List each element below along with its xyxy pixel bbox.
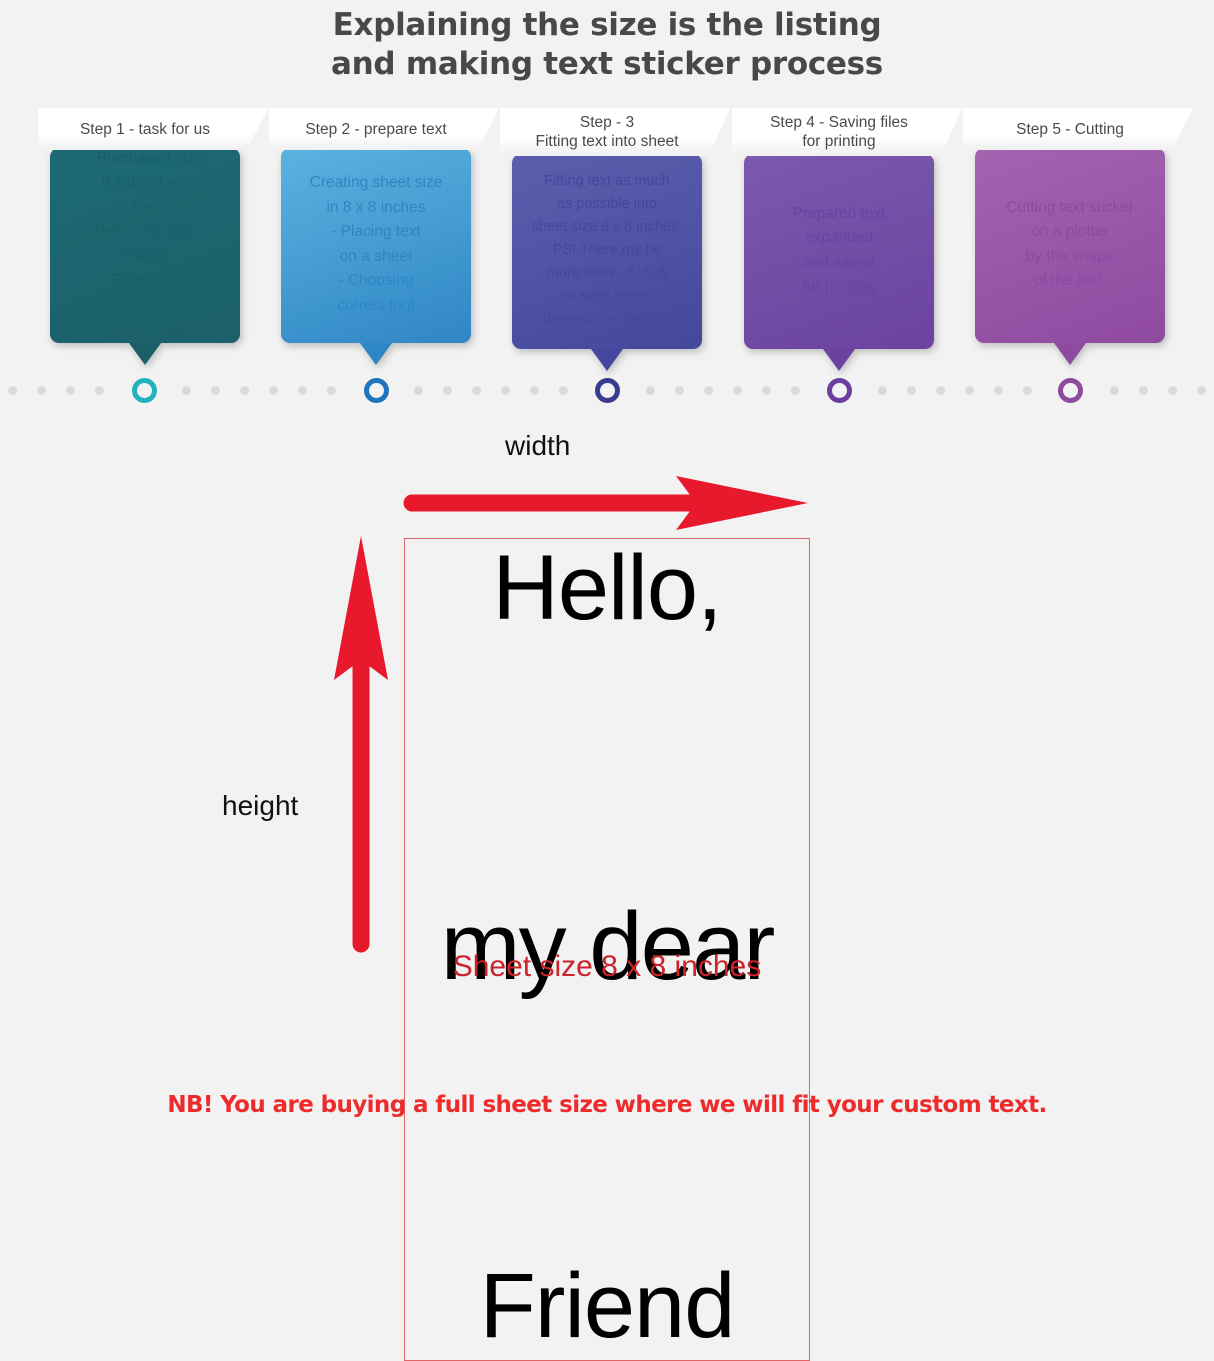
step-4-label-ribbon: Step 4 - Saving files for printing: [732, 108, 962, 156]
timeline-dot: [1168, 386, 1177, 395]
nb-note: NB! You are buying a full sheet size whe…: [0, 1092, 1214, 1118]
timeline-dot: [907, 386, 916, 395]
timeline-dot: [240, 386, 249, 395]
timeline-marker-step-3[interactable]: [595, 378, 620, 403]
timeline-dot: [1023, 386, 1032, 395]
timeline-dot: [559, 386, 568, 395]
step-5-pointer-tail: [1054, 343, 1086, 365]
step-3-body-line: sheet size 8 x 8 inches.: [520, 216, 694, 239]
step-1-body-line: 8 x 8 inches: [58, 294, 232, 319]
step-5-card: Cutting text sticker on a plotter by the…: [975, 148, 1165, 343]
step-3-pointer-tail: [591, 349, 623, 371]
timeline-marker-step-2[interactable]: [364, 378, 389, 403]
step-5-card-text: Cutting text sticker on a plotter by the…: [983, 196, 1157, 294]
step-4-label-text: Step 4 - Saving files: [770, 113, 908, 132]
timeline-dot: [95, 386, 104, 395]
step-2-label-text: Step 2 - prepare text: [305, 120, 446, 139]
step-3-body-line: depends on the text: [520, 308, 694, 331]
step-4-body-line: for printing: [752, 275, 926, 300]
timeline-dot: [211, 386, 220, 395]
timeline-dot: [472, 386, 481, 395]
timeline-dot: [791, 386, 800, 395]
timeline-dot: [675, 386, 684, 395]
step-1-body-line: Hello, my dear: [58, 220, 232, 245]
step-1-body-line: Friend.: [58, 245, 232, 270]
sheet-text-line-3: Friend: [404, 1256, 810, 1356]
step-4-body-line: Prepared text: [752, 202, 926, 227]
width-dimension-label: width: [505, 430, 570, 462]
timeline-dot: [1139, 386, 1148, 395]
step-2[interactable]: Step 2 - prepare text Creating sheet siz…: [281, 108, 471, 343]
step-1-body-line: -Font : Lato: [58, 318, 232, 343]
step-5-body-line: Cutting text sticker: [983, 196, 1157, 221]
step-2-body-line: in 8 x 8 inches: [289, 196, 463, 221]
timeline-dot: [66, 386, 75, 395]
step-5[interactable]: Step 5 - Cutting Cutting text sticker on…: [975, 108, 1165, 343]
step-3-body-line: Fitting text as much: [520, 170, 694, 193]
timeline-dot: [530, 386, 539, 395]
step-3-label-subtext: Fitting text into sheet: [535, 132, 678, 151]
step-4-card: Prepared text expanded and saved for pri…: [744, 154, 934, 349]
step-5-body-line: by the shape: [983, 245, 1157, 270]
timeline-dot: [269, 386, 278, 395]
step-4-card-text: Prepared text expanded and saved for pri…: [752, 202, 926, 300]
sheet-size-caption: Sheet size 8 x 8 inches: [404, 950, 810, 984]
step-1-body-line: 8 x 8 inches.: [58, 171, 232, 196]
step-2-pointer-tail: [360, 343, 392, 365]
timeline-dot: [37, 386, 46, 395]
process-steps-strip: Step 1 - task for us - Purchased size 8 …: [0, 108, 1214, 368]
page-title-line-1: Explaining the size is the listing: [0, 6, 1214, 45]
step-3-card-text: Fitting text as much as possible into sh…: [520, 170, 694, 331]
timeline-dot: [936, 386, 945, 395]
timeline-dot: [762, 386, 771, 395]
step-1-card: - Purchased size 8 x 8 inches. - Text : …: [50, 148, 240, 343]
step-2-body-line: correct font: [289, 294, 463, 319]
timeline-dot: [1197, 386, 1206, 395]
height-dimension-label: height: [222, 790, 298, 822]
timeline-marker-step-4[interactable]: [827, 378, 852, 403]
step-1-body-line: - Fit into size: [58, 269, 232, 294]
page-title-line-2: and making text sticker process: [0, 45, 1214, 84]
timeline-dot: [443, 386, 452, 395]
step-1-card-text: - Purchased size 8 x 8 inches. - Text : …: [58, 147, 232, 343]
step-5-body-line: on a plotter: [983, 220, 1157, 245]
step-3-card: Fitting text as much as possible into sh…: [512, 154, 702, 349]
step-3-label-ribbon: Step - 3 Fitting text into sheet: [500, 108, 730, 156]
timeline-dot: [414, 386, 423, 395]
step-3-body-line: more rows : 4, 5, 6: [520, 262, 694, 285]
step-2-body-line: Creating sheet size: [289, 171, 463, 196]
step-2-label-ribbon: Step 2 - prepare text: [269, 108, 499, 150]
step-4-body-line: and saved: [752, 251, 926, 276]
timeline-dot: [327, 386, 336, 395]
step-4-body-line: expanded: [752, 226, 926, 251]
step-1-body-line: - Purchased size: [58, 147, 232, 172]
step-1-label-text: Step 1 - task for us: [80, 120, 210, 139]
timeline-marker-step-1[interactable]: [132, 378, 157, 403]
step-2-card: Creating sheet size in 8 x 8 inches - Pl…: [281, 148, 471, 343]
sheet-text-line-1: Hello,: [404, 538, 810, 638]
step-5-label-text: Step 5 - Cutting: [1016, 120, 1124, 139]
timeline-dot: [965, 386, 974, 395]
timeline-dot: [501, 386, 510, 395]
timeline-dot: [298, 386, 307, 395]
step-2-body-line: on a sheet: [289, 245, 463, 270]
step-4-pointer-tail: [823, 349, 855, 371]
timeline-dot: [182, 386, 191, 395]
sheet-size-diagram: width height Hello, my dear Friend Sheet…: [0, 420, 1214, 1020]
arrow-right-icon: [404, 472, 814, 534]
step-1-pointer-tail: [129, 343, 161, 365]
step-3[interactable]: Step - 3 Fitting text into sheet Fitting…: [512, 108, 702, 349]
sheet-preview-text: Hello, my dear Friend: [404, 532, 810, 1358]
step-3-body-line: as possible into: [520, 193, 694, 216]
step-4-label-subtext: for printing: [770, 132, 908, 151]
step-2-card-text: Creating sheet size in 8 x 8 inches - Pl…: [289, 171, 463, 318]
timeline-dot: [1110, 386, 1119, 395]
step-3-body-line: or even more,: [520, 285, 694, 308]
step-3-body-line: PS! There my be: [520, 239, 694, 262]
step-2-body-line: - Choosing: [289, 269, 463, 294]
step-5-body-line: of the text.: [983, 269, 1157, 294]
timeline-dot: [646, 386, 655, 395]
step-1[interactable]: Step 1 - task for us - Purchased size 8 …: [50, 108, 240, 343]
timeline-dot: [733, 386, 742, 395]
step-3-label-text: Step - 3: [535, 113, 678, 132]
page-title: Explaining the size is the listing and m…: [0, 6, 1214, 84]
timeline-dot: [8, 386, 17, 395]
arrow-up-icon: [330, 532, 392, 952]
timeline-marker-step-5[interactable]: [1058, 378, 1083, 403]
timeline-dot: [994, 386, 1003, 395]
step-5-label-ribbon: Step 5 - Cutting: [963, 108, 1193, 150]
step-1-body-line: - Text :: [58, 196, 232, 221]
step-2-body-line: - Placing text: [289, 220, 463, 245]
step-4[interactable]: Step 4 - Saving files for printing Prepa…: [744, 108, 934, 349]
process-timeline: [0, 378, 1214, 406]
step-1-label-ribbon: Step 1 - task for us: [38, 108, 268, 150]
timeline-dot: [704, 386, 713, 395]
timeline-dot: [878, 386, 887, 395]
